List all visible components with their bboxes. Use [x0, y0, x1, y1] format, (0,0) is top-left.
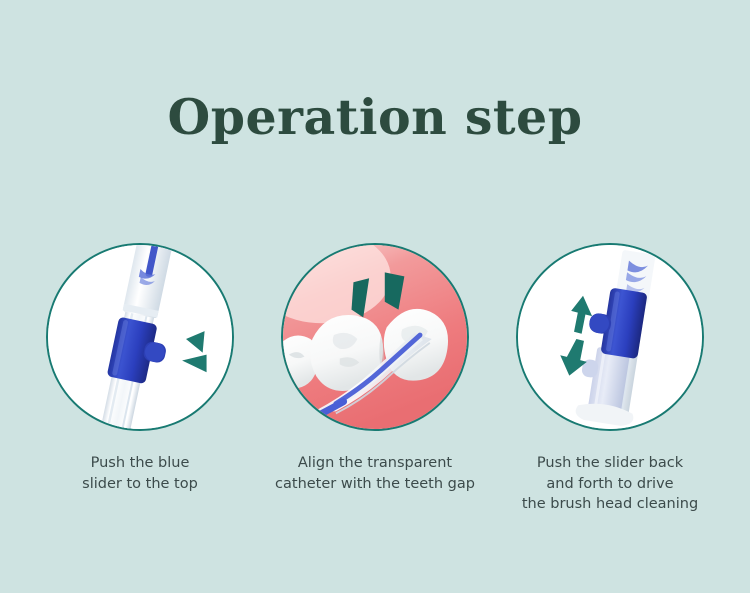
- step-illustration-1: [46, 243, 234, 431]
- page-title: Operation step: [0, 92, 750, 143]
- step-item-2: Align the transparent catheter with the …: [280, 243, 470, 494]
- brush-device-updown-illustration: [518, 245, 702, 429]
- clear-tube-with-blue-slider-illustration: [48, 245, 232, 429]
- steps-row: Push the blue slider to the top: [0, 243, 750, 515]
- step-caption-1: Push the blue slider to the top: [33, 453, 248, 494]
- step-caption-3: Push the slider back and forth to drive …: [498, 453, 723, 515]
- teeth-and-catheter-illustration: [283, 245, 467, 429]
- step-illustration-2: [281, 243, 469, 431]
- operation-step-page: Operation step: [0, 0, 750, 593]
- step-item-3: Push the slider back and forth to drive …: [515, 243, 705, 515]
- step-item-1: Push the blue slider to the top: [45, 243, 235, 494]
- step-caption-2: Align the transparent catheter with the …: [268, 453, 483, 494]
- step-illustration-3: [516, 243, 704, 431]
